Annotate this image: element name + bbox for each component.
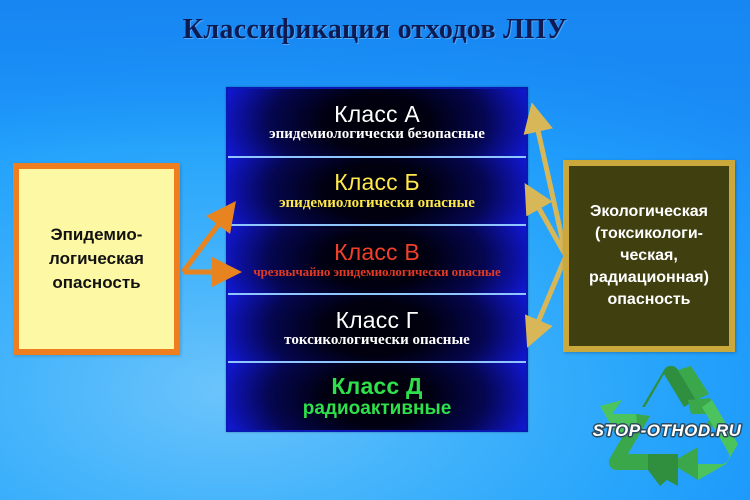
arrow-to-class-a xyxy=(535,117,566,256)
epidemiological-hazard-line-2: логическая xyxy=(49,247,144,271)
class-g-description: токсикологически опасные xyxy=(284,333,470,349)
ecological-hazard-box: Экологическая (токсикологи- ческая, ради… xyxy=(563,160,735,352)
class-row-g: Класс Г токсикологически опасные xyxy=(228,295,526,364)
watermark-logo: STOP-OTHOD.RU xyxy=(592,362,742,492)
waste-class-stack: Класс А эпидемиологически безопасные Кла… xyxy=(226,87,528,432)
class-row-d: Класс Д радиоактивные xyxy=(228,363,526,430)
class-row-b: Класс Б эпидемиологически опасные xyxy=(228,158,526,227)
arrow-epidemiological-group xyxy=(183,213,227,272)
class-v-label: Класс В xyxy=(334,240,420,264)
ecological-hazard-text: Экологическая (токсикологи- ческая, ради… xyxy=(589,201,709,311)
ecological-hazard-line-2: (токсикологи- xyxy=(589,223,709,245)
class-row-a: Класс А эпидемиологически безопасные xyxy=(228,89,526,158)
arrow-to-class-d xyxy=(533,256,566,334)
epidemiological-hazard-line-3: опасность xyxy=(49,271,144,295)
class-v-description: чрезвычайно эпидемиологически опасные xyxy=(253,265,500,279)
class-a-description: эпидемиологически безопасные xyxy=(269,127,485,143)
arrow-to-class-b xyxy=(183,213,227,272)
class-b-label: Класс Б xyxy=(334,170,420,194)
ecological-hazard-line-1: Экологическая xyxy=(589,201,709,223)
class-row-v: Класс В чрезвычайно эпидемиологически оп… xyxy=(228,226,526,295)
class-a-label: Класс А xyxy=(334,102,420,126)
class-d-label: Класс Д xyxy=(331,374,422,398)
ecological-hazard-line-5: опасность xyxy=(589,289,709,311)
ecological-hazard-line-4: радиационная) xyxy=(589,267,709,289)
page-title: Классификация отходов ЛПУ xyxy=(0,14,750,46)
watermark-text: STOP-OTHOD.RU xyxy=(584,421,750,441)
class-d-description: радиоактивные xyxy=(303,399,452,419)
ecological-hazard-line-3: ческая, xyxy=(589,245,709,267)
epidemiological-hazard-text: Эпидемио- логическая опасность xyxy=(49,223,144,295)
class-b-description: эпидемиологически опасные xyxy=(279,196,475,212)
epidemiological-hazard-line-1: Эпидемио- xyxy=(49,223,144,247)
epidemiological-hazard-box: Эпидемио- логическая опасность xyxy=(13,163,180,355)
arrow-to-class-g xyxy=(532,196,566,256)
slide-canvas: Классификация отходов ЛПУ Класс А эпидем… xyxy=(0,0,750,500)
class-g-label: Класс Г xyxy=(336,308,419,332)
arrow-ecological-group xyxy=(532,117,566,334)
